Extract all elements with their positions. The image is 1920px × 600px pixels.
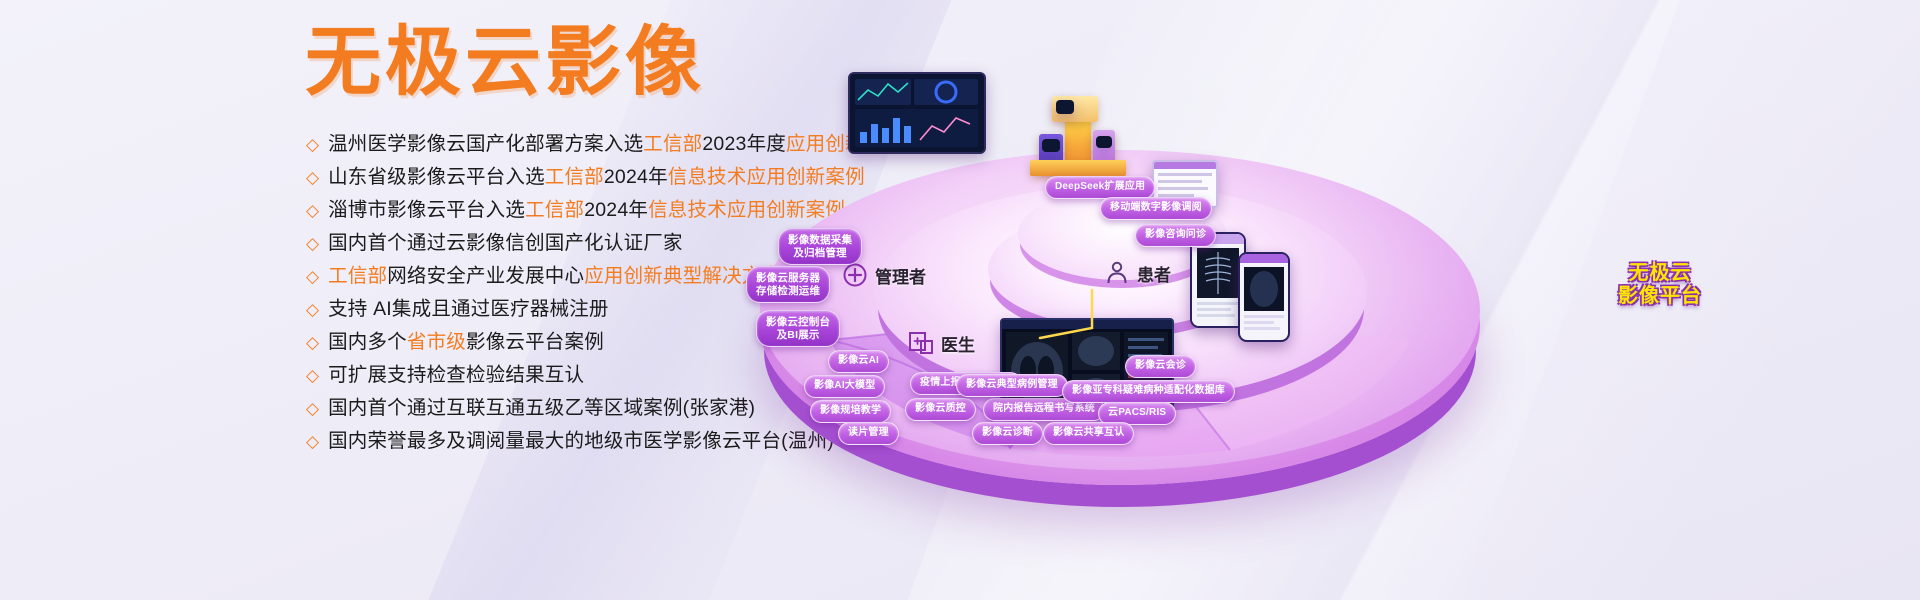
pill-left-2[interactable]: 影像云控制台及BI展示 — [756, 310, 840, 347]
bullet-segment: 2024年 — [584, 199, 648, 221]
pill-right-0-label: DeepSeek扩展应用 — [1055, 181, 1145, 192]
dashboard-screen — [848, 72, 986, 154]
pill-left-1-label: 影像云服务器存储检测运维 — [756, 272, 820, 297]
bullet-segment: 省市级 — [407, 331, 466, 353]
pill-bottom-7[interactable]: 影像云典型病例管理 — [956, 374, 1068, 397]
pill-bottom-1-label: 影像AI大模型 — [814, 380, 875, 391]
pill-bottom-8-label: 影像云诊断 — [982, 427, 1033, 438]
pill-bottom-12-label: 影像云共享互认 — [1053, 427, 1124, 438]
feature-bullet-7-label: 可扩展支持检查检验结果互认 — [328, 359, 584, 392]
diamond-icon: ◇ — [306, 227, 319, 260]
diamond-icon: ◇ — [306, 359, 319, 392]
diamond-icon: ◇ — [306, 425, 319, 458]
diamond-icon: ◇ — [306, 128, 319, 161]
bullet-segment: 国内首个通过云影像信创国产化认证厂家 — [328, 232, 683, 254]
pill-left-2-label: 影像云控制台及BI展示 — [766, 316, 830, 341]
mobile-viewer-thumbnail — [1240, 254, 1288, 340]
tower-screen-small — [1056, 100, 1074, 114]
pill-bottom-0-label: 影像云AI — [838, 355, 879, 366]
pill-bottom-9[interactable]: 影像云会诊 — [1125, 355, 1196, 378]
center-badge-line1: 无极云 — [1580, 262, 1740, 285]
feature-bullet-6-label: 国内多个省市级影像云平台案例 — [328, 326, 604, 359]
banner-canvas: 无极云影像 ◇温州医学影像云国产化部署方案入选工信部2023年度应用创新应用示范… — [0, 0, 1920, 600]
bullet-segment: 支持 AI集成且通过医疗器械注册 — [328, 298, 609, 320]
pill-bottom-12[interactable]: 影像云共享互认 — [1043, 422, 1134, 445]
pill-right-2-label: 影像咨询问诊 — [1145, 229, 1206, 240]
pill-bottom-4[interactable]: 影像云质控 — [905, 398, 976, 421]
pill-right-1-label: 移动端数字影像调阅 — [1110, 202, 1202, 213]
page-title: 无极云影像 — [305, 24, 705, 100]
tower-screen-left — [1042, 139, 1060, 152]
role-patient-label: 患者 — [1137, 261, 1171, 286]
tower-screen-right — [1096, 136, 1112, 148]
pill-bottom-5-label: 读片管理 — [848, 427, 889, 438]
bullet-segment: 工信部 — [328, 265, 387, 287]
bullet-segment: 淄博市影像云平台入选 — [328, 199, 525, 221]
pill-bottom-5[interactable]: 读片管理 — [838, 422, 899, 445]
pill-right-1[interactable]: 移动端数字影像调阅 — [1100, 197, 1212, 220]
platform-diagram: 无极云 影像平台 管理者 医生 — [700, 0, 1920, 600]
role-doctor-label: 医生 — [941, 331, 975, 356]
diamond-icon: ◇ — [306, 194, 319, 227]
pill-bottom-6-label: 院内报告远程书写系统 — [993, 403, 1095, 414]
pill-bottom-9-label: 影像云会诊 — [1135, 360, 1186, 371]
pill-bottom-8[interactable]: 影像云诊断 — [972, 422, 1043, 445]
pill-bottom-0[interactable]: 影像云AI — [828, 350, 889, 373]
diamond-icon: ◇ — [306, 293, 319, 326]
bullet-segment: 网络安全产业发展中心 — [387, 265, 584, 287]
bullet-segment: 国内首个通过互联互通五级乙等区域案例(张家港) — [328, 397, 755, 419]
center-platform-badge: 无极云 影像平台 — [1580, 262, 1740, 308]
bullet-segment: 温州医学影像云国产化部署方案入选 — [328, 133, 643, 155]
diamond-icon: ◇ — [306, 392, 319, 425]
diamond-icon: ◇ — [306, 260, 319, 293]
patient-person-icon — [1104, 260, 1130, 286]
feature-bullet-8-label: 国内首个通过互联互通五级乙等区域案例(张家港) — [328, 392, 755, 425]
bullet-segment: 国内多个 — [328, 331, 407, 353]
bullet-segment: 工信部 — [525, 199, 584, 221]
diamond-icon: ◇ — [306, 161, 319, 194]
pill-left-0-label: 影像数据采集及归档管理 — [788, 234, 852, 259]
pill-bottom-10[interactable]: 影像亚专科疑难病种适配化数据库 — [1062, 380, 1235, 403]
pill-left-0[interactable]: 影像数据采集及归档管理 — [778, 228, 862, 265]
patient-phone-dark — [1238, 252, 1290, 342]
dashboard-chart — [850, 74, 984, 152]
pill-left-1[interactable]: 影像云服务器存储检测运维 — [746, 266, 830, 303]
role-admin-label: 管理者 — [875, 263, 926, 288]
diamond-icon: ◇ — [306, 326, 319, 359]
role-admin[interactable]: 管理者 — [842, 262, 926, 288]
bullet-segment: 山东省级影像云平台入选 — [328, 166, 545, 188]
bullet-segment: 影像云平台案例 — [466, 331, 604, 353]
feature-bullet-5-label: 支持 AI集成且通过医疗器械注册 — [328, 293, 609, 326]
pill-bottom-7-label: 影像云典型病例管理 — [966, 379, 1058, 390]
pill-bottom-2-label: 影像规培教学 — [820, 405, 881, 416]
pill-right-2[interactable]: 影像咨询问诊 — [1135, 224, 1216, 247]
pill-bottom-4-label: 影像云质控 — [915, 403, 966, 414]
bullet-segment: 2024年 — [604, 166, 668, 188]
tower-base — [1030, 160, 1126, 176]
pill-bottom-2[interactable]: 影像规培教学 — [810, 400, 891, 423]
pill-right-0[interactable]: DeepSeek扩展应用 — [1045, 176, 1155, 199]
role-doctor[interactable]: 医生 — [908, 330, 975, 356]
pill-bottom-10-label: 影像亚专科疑难病种适配化数据库 — [1072, 385, 1225, 396]
bullet-segment: 工信部 — [643, 133, 702, 155]
feature-bullet-3-label: 国内首个通过云影像信创国产化认证厂家 — [328, 227, 683, 260]
admin-plus-icon — [842, 262, 868, 288]
doctor-chart-icon — [908, 330, 934, 356]
pill-bottom-11-label: 云PACS/RIS — [1108, 407, 1166, 418]
center-badge-line2: 影像平台 — [1580, 285, 1740, 308]
pill-bottom-1[interactable]: 影像AI大模型 — [804, 375, 885, 398]
role-patient[interactable]: 患者 — [1104, 260, 1171, 286]
bullet-segment: 工信部 — [545, 166, 604, 188]
xray-thumbnail — [1192, 234, 1244, 326]
badge-doctor-connector — [1030, 288, 1110, 348]
bullet-segment: 可扩展支持检查检验结果互认 — [328, 364, 584, 386]
